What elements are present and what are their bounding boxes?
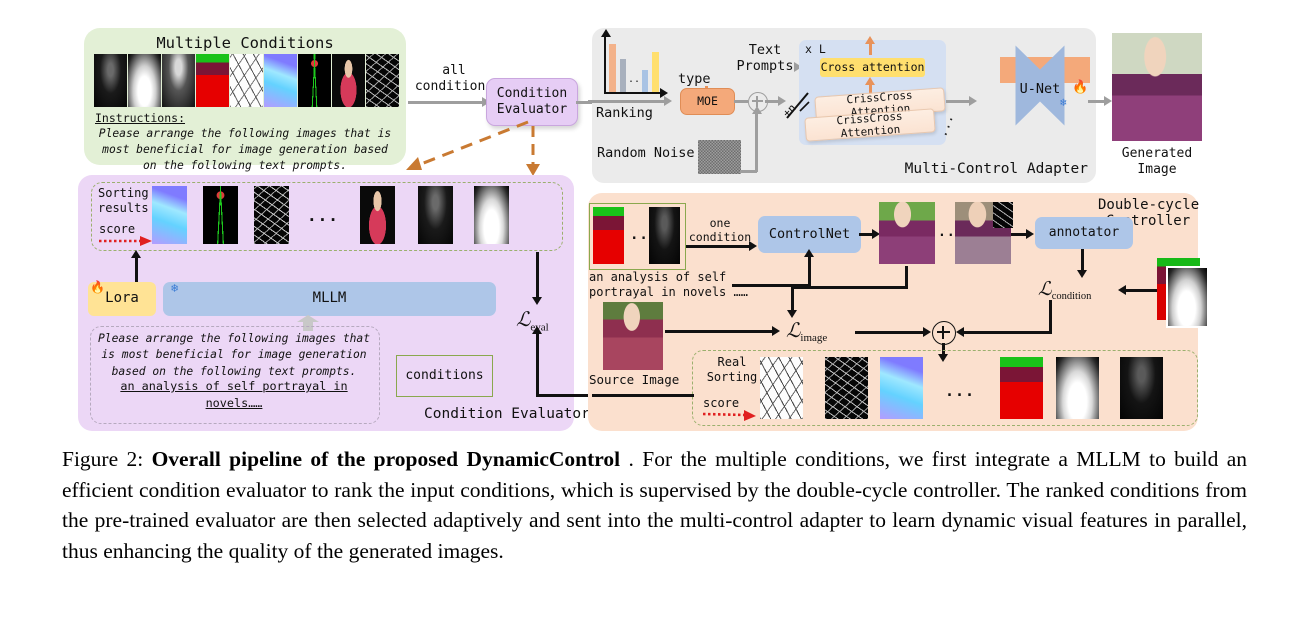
arrow-moe-to-sum (734, 100, 748, 103)
real-sorting-thumbnail[interactable] (825, 357, 868, 419)
sorting-results-label-line1: Sorting (98, 186, 149, 201)
multiple-conditions-panel: Multiple Conditions Instructions: Please… (84, 28, 406, 165)
arrow-one-condition (686, 245, 752, 248)
condition-evaluator-line1: Condition (497, 86, 567, 102)
moe-block[interactable]: MOE (680, 88, 735, 115)
arrow-loss-eval-tail (536, 357, 539, 397)
annotator-label: annotator (1049, 225, 1119, 241)
instructions-text: Please arrange the following images that… (95, 126, 395, 174)
mllm-label: MLLM (313, 290, 347, 307)
selected-condition-thumbnail[interactable] (649, 207, 680, 264)
selected-condition-thumbnail[interactable] (593, 207, 624, 264)
total-loss-sum-operator (932, 321, 956, 345)
prompt-text-primary: Please arrange the following images that… (96, 331, 372, 380)
condition-thumbnail-strip (94, 54, 399, 107)
arrow-into-moe-head (664, 96, 672, 106)
condition-thumbnail[interactable] (264, 54, 297, 107)
real-sorting-thumbnail[interactable] (880, 357, 923, 419)
condition-thumbnail[interactable] (128, 54, 161, 107)
condition-thumbnail[interactable] (366, 54, 399, 107)
arrow-to-loss-eval-down (536, 252, 539, 300)
fire-icon: 🔥 (1072, 80, 1088, 95)
arrow-loss-image-to-sum-head (923, 327, 931, 337)
controlnet-label: ControlNet (769, 226, 850, 242)
snowflake-icon: ❄ (1060, 96, 1067, 109)
cross-attention-block[interactable]: Cross attention (820, 58, 925, 77)
one-condition-label-line1: one (687, 216, 753, 230)
real-condition-thumbnail-front[interactable] (1166, 266, 1209, 328)
arrow-annotator-to-loss-head (1077, 270, 1087, 278)
repeat-label: x L (805, 42, 826, 56)
source-image-label: Source Image (589, 372, 679, 388)
score-arrow-evaluator (98, 236, 154, 247)
arrow-unet-to-output-head (1104, 96, 1112, 106)
arrow-to-loss-eval-down-head (532, 297, 542, 305)
arrow-loss-condition-to-sum-v (1049, 300, 1052, 332)
loss-condition-label: ℒcondition (1038, 278, 1091, 302)
generated-image-thumbnail (1112, 33, 1202, 141)
arrow-gen-down-v2 (791, 286, 794, 312)
annotator-block[interactable]: annotator (1035, 217, 1133, 249)
generated-image-label-line2: Image (1112, 162, 1202, 178)
condition-thumbnail[interactable] (162, 54, 195, 107)
chart-bar (652, 52, 659, 92)
unet-label: U-Net (1020, 81, 1061, 97)
random-noise-thumbnail (698, 140, 741, 174)
ranking-bar-chart: ... (600, 36, 668, 98)
real-sorting-thumbnail[interactable] (1056, 357, 1099, 419)
controller-text-prompt-line1: an analysis of self (589, 270, 726, 285)
sorted-thumbnails-ellipsis: ... (307, 206, 339, 226)
sorted-thumbnail[interactable] (474, 186, 509, 244)
real-sorting-label-line2: Sorting (700, 370, 764, 385)
score-label-evaluator: score (99, 222, 135, 237)
arrow-gen-down-head (787, 310, 797, 318)
conditions-box-label: conditions (405, 368, 483, 384)
condition-evaluator-line2: Evaluator (497, 102, 567, 118)
figure-label: Figure 2: (62, 447, 143, 471)
sorted-thumbnail[interactable] (360, 186, 395, 244)
chart-y-axis (604, 36, 606, 94)
score-arrow-controller (702, 409, 758, 421)
controller-text-prompt-line2: portrayal in novels …… (589, 285, 748, 300)
arrow-all-conditions (408, 101, 486, 104)
sorted-thumbnail[interactable] (254, 186, 289, 244)
arrow-to-loss-eval-up (536, 332, 539, 360)
condition-thumbnail[interactable] (94, 54, 127, 107)
condition-evaluator-panel-title: Condition Evaluator (424, 405, 590, 423)
arrow-one-condition-head (749, 241, 757, 251)
arrow-lora-to-sorting (135, 256, 138, 282)
text-prompts-label-line1: Text (735, 42, 795, 59)
arrow-real-condition-to-loss-head (1118, 285, 1126, 295)
condition-thumbnail[interactable] (298, 54, 331, 107)
one-condition-label-line2: condition (683, 230, 757, 244)
double-cycle-title-line1: Double-cycle (1098, 197, 1198, 215)
dashed-arrow-evaluator-to-panel (396, 118, 532, 178)
sorted-thumbnail[interactable] (152, 186, 187, 244)
unet-block[interactable]: U-Net (1000, 66, 1080, 112)
figure-caption: Figure 2: Overall pipeline of the propos… (62, 444, 1247, 566)
all-conditions-label-line1: all (409, 63, 499, 79)
arrow-into-moe (588, 100, 668, 103)
controller-generated-thumbnail[interactable] (879, 202, 935, 264)
arrow-gen-down-h (791, 286, 908, 289)
arrow-prompt-to-controlnet-v (808, 255, 811, 286)
arrow-crisscross-to-cross-head (865, 77, 875, 85)
chart-x-axis (604, 92, 662, 94)
chart-y-axis-head (601, 29, 611, 37)
arrow-noise-up (755, 112, 758, 172)
multiple-conditions-title: Multiple Conditions (84, 34, 406, 53)
arrow-to-loss-eval-up-head (532, 326, 542, 334)
controller-generated-overlay-thumbnail (993, 202, 1013, 228)
chart-bar (642, 70, 648, 92)
snowflake-icon: ❄ (171, 281, 178, 295)
condition-thumbnail[interactable] (332, 54, 365, 107)
arrow-gen-to-annotator-head (1026, 229, 1034, 239)
arrow-loss-image-to-sum (855, 331, 927, 334)
arrow-real-sorting-to-loss-eval (592, 394, 694, 397)
real-sorting-thumbnail[interactable] (760, 357, 803, 419)
ranking-label: Ranking (596, 105, 653, 122)
arrow-loss-condition-to-sum-head (956, 327, 964, 337)
source-image-thumbnail (603, 302, 663, 370)
sorted-thumbnail[interactable] (418, 186, 453, 244)
arrow-real-condition-to-loss (1124, 289, 1158, 292)
multi-control-adapter-title: Multi-Control Adapter (905, 160, 1088, 178)
chart-bar (609, 44, 616, 92)
sorting-results-label-line2: results (98, 201, 149, 216)
condition-thumbnail[interactable] (196, 54, 229, 107)
text-prompts-label-line2: Prompts (728, 58, 802, 75)
condition-thumbnail[interactable] (230, 54, 263, 107)
loss-image-label: ℒimage (786, 318, 827, 344)
arrow-noise-up-head (752, 106, 762, 114)
arrow-lora-to-sorting-head (131, 250, 141, 258)
moe-label: MOE (697, 94, 718, 108)
dashed-arrow-evaluator-down (521, 126, 545, 178)
chart-bar (620, 59, 626, 92)
instructions-label: Instructions: (95, 111, 185, 125)
conditions-box[interactable]: conditions (396, 355, 493, 397)
arrow-gen-down-v1 (905, 266, 908, 288)
mllm-block[interactable]: MLLM (163, 282, 496, 316)
arrow-adapter-to-unet-head (969, 96, 977, 106)
real-sorting-thumbnail[interactable] (1000, 357, 1043, 419)
cross-attention-label: Cross attention (821, 60, 925, 74)
figure-title: Overall pipeline of the proposed Dynamic… (152, 447, 621, 471)
arrow-loss-eval-from-controller (536, 394, 592, 397)
arrow-source-to-loss-image (665, 330, 775, 333)
arrow-loss-condition-to-sum-h (962, 331, 1052, 334)
controlnet-block[interactable]: ControlNet (758, 216, 861, 253)
arrow-cross-attention-out-head (865, 36, 875, 44)
real-sorting-thumbnail[interactable] (1120, 357, 1163, 419)
fire-icon: 🔥 (90, 280, 105, 294)
arrow-source-to-loss-image-head (772, 326, 780, 336)
lora-label: Lora (105, 290, 139, 307)
real-sorting-label-line1: Real (702, 355, 762, 370)
sorted-thumbnail[interactable] (203, 186, 238, 244)
arrow-prompt-to-controlnet-head (804, 249, 814, 257)
random-noise-label: Random Noise (597, 145, 695, 162)
prompt-text-secondary: an analysis of self portrayal in novels…… (96, 378, 372, 412)
real-sorting-ellipsis: ... (945, 382, 975, 401)
generated-image-label-line1: Generated (1112, 146, 1202, 162)
